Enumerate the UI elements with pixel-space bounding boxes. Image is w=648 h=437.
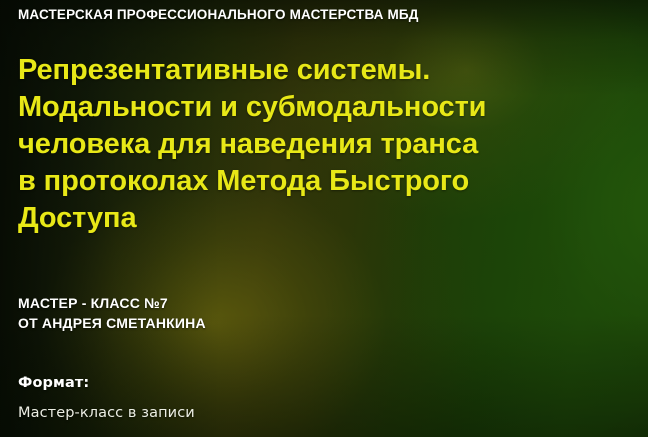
promo-poster: МАСТЕРСКАЯ ПРОФЕССИОНАЛЬНОГО МАСТЕРСТВА …: [0, 0, 648, 437]
masterclass-author-line: ОТ АНДРЕЯ СМЕТАНКИНА: [18, 313, 206, 333]
poster-content: МАСТЕРСКАЯ ПРОФЕССИОНАЛЬНОГО МАСТЕРСТВА …: [0, 0, 648, 437]
headline-line-4: в протоколах Метода Быстрого: [18, 163, 618, 200]
page-title: Репрезентативные системы. Модальности и …: [18, 52, 618, 237]
headline-line-1: Репрезентативные системы.: [18, 52, 618, 89]
poster-eyebrow: МАСТЕРСКАЯ ПРОФЕССИОНАЛЬНОГО МАСТЕРСТВА …: [18, 7, 419, 22]
masterclass-info: МАСТЕР - КЛАСС №7 ОТ АНДРЕЯ СМЕТАНКИНА: [18, 293, 206, 333]
headline-line-3: человека для наведения транса: [18, 126, 618, 163]
masterclass-number-line: МАСТЕР - КЛАСС №7: [18, 293, 206, 313]
format-label: Формат:: [18, 375, 89, 391]
headline-line-2: Модальности и субмодальности: [18, 89, 618, 126]
headline-line-5: Доступа: [18, 200, 618, 237]
format-value: Мастер-класс в записи: [18, 405, 195, 421]
